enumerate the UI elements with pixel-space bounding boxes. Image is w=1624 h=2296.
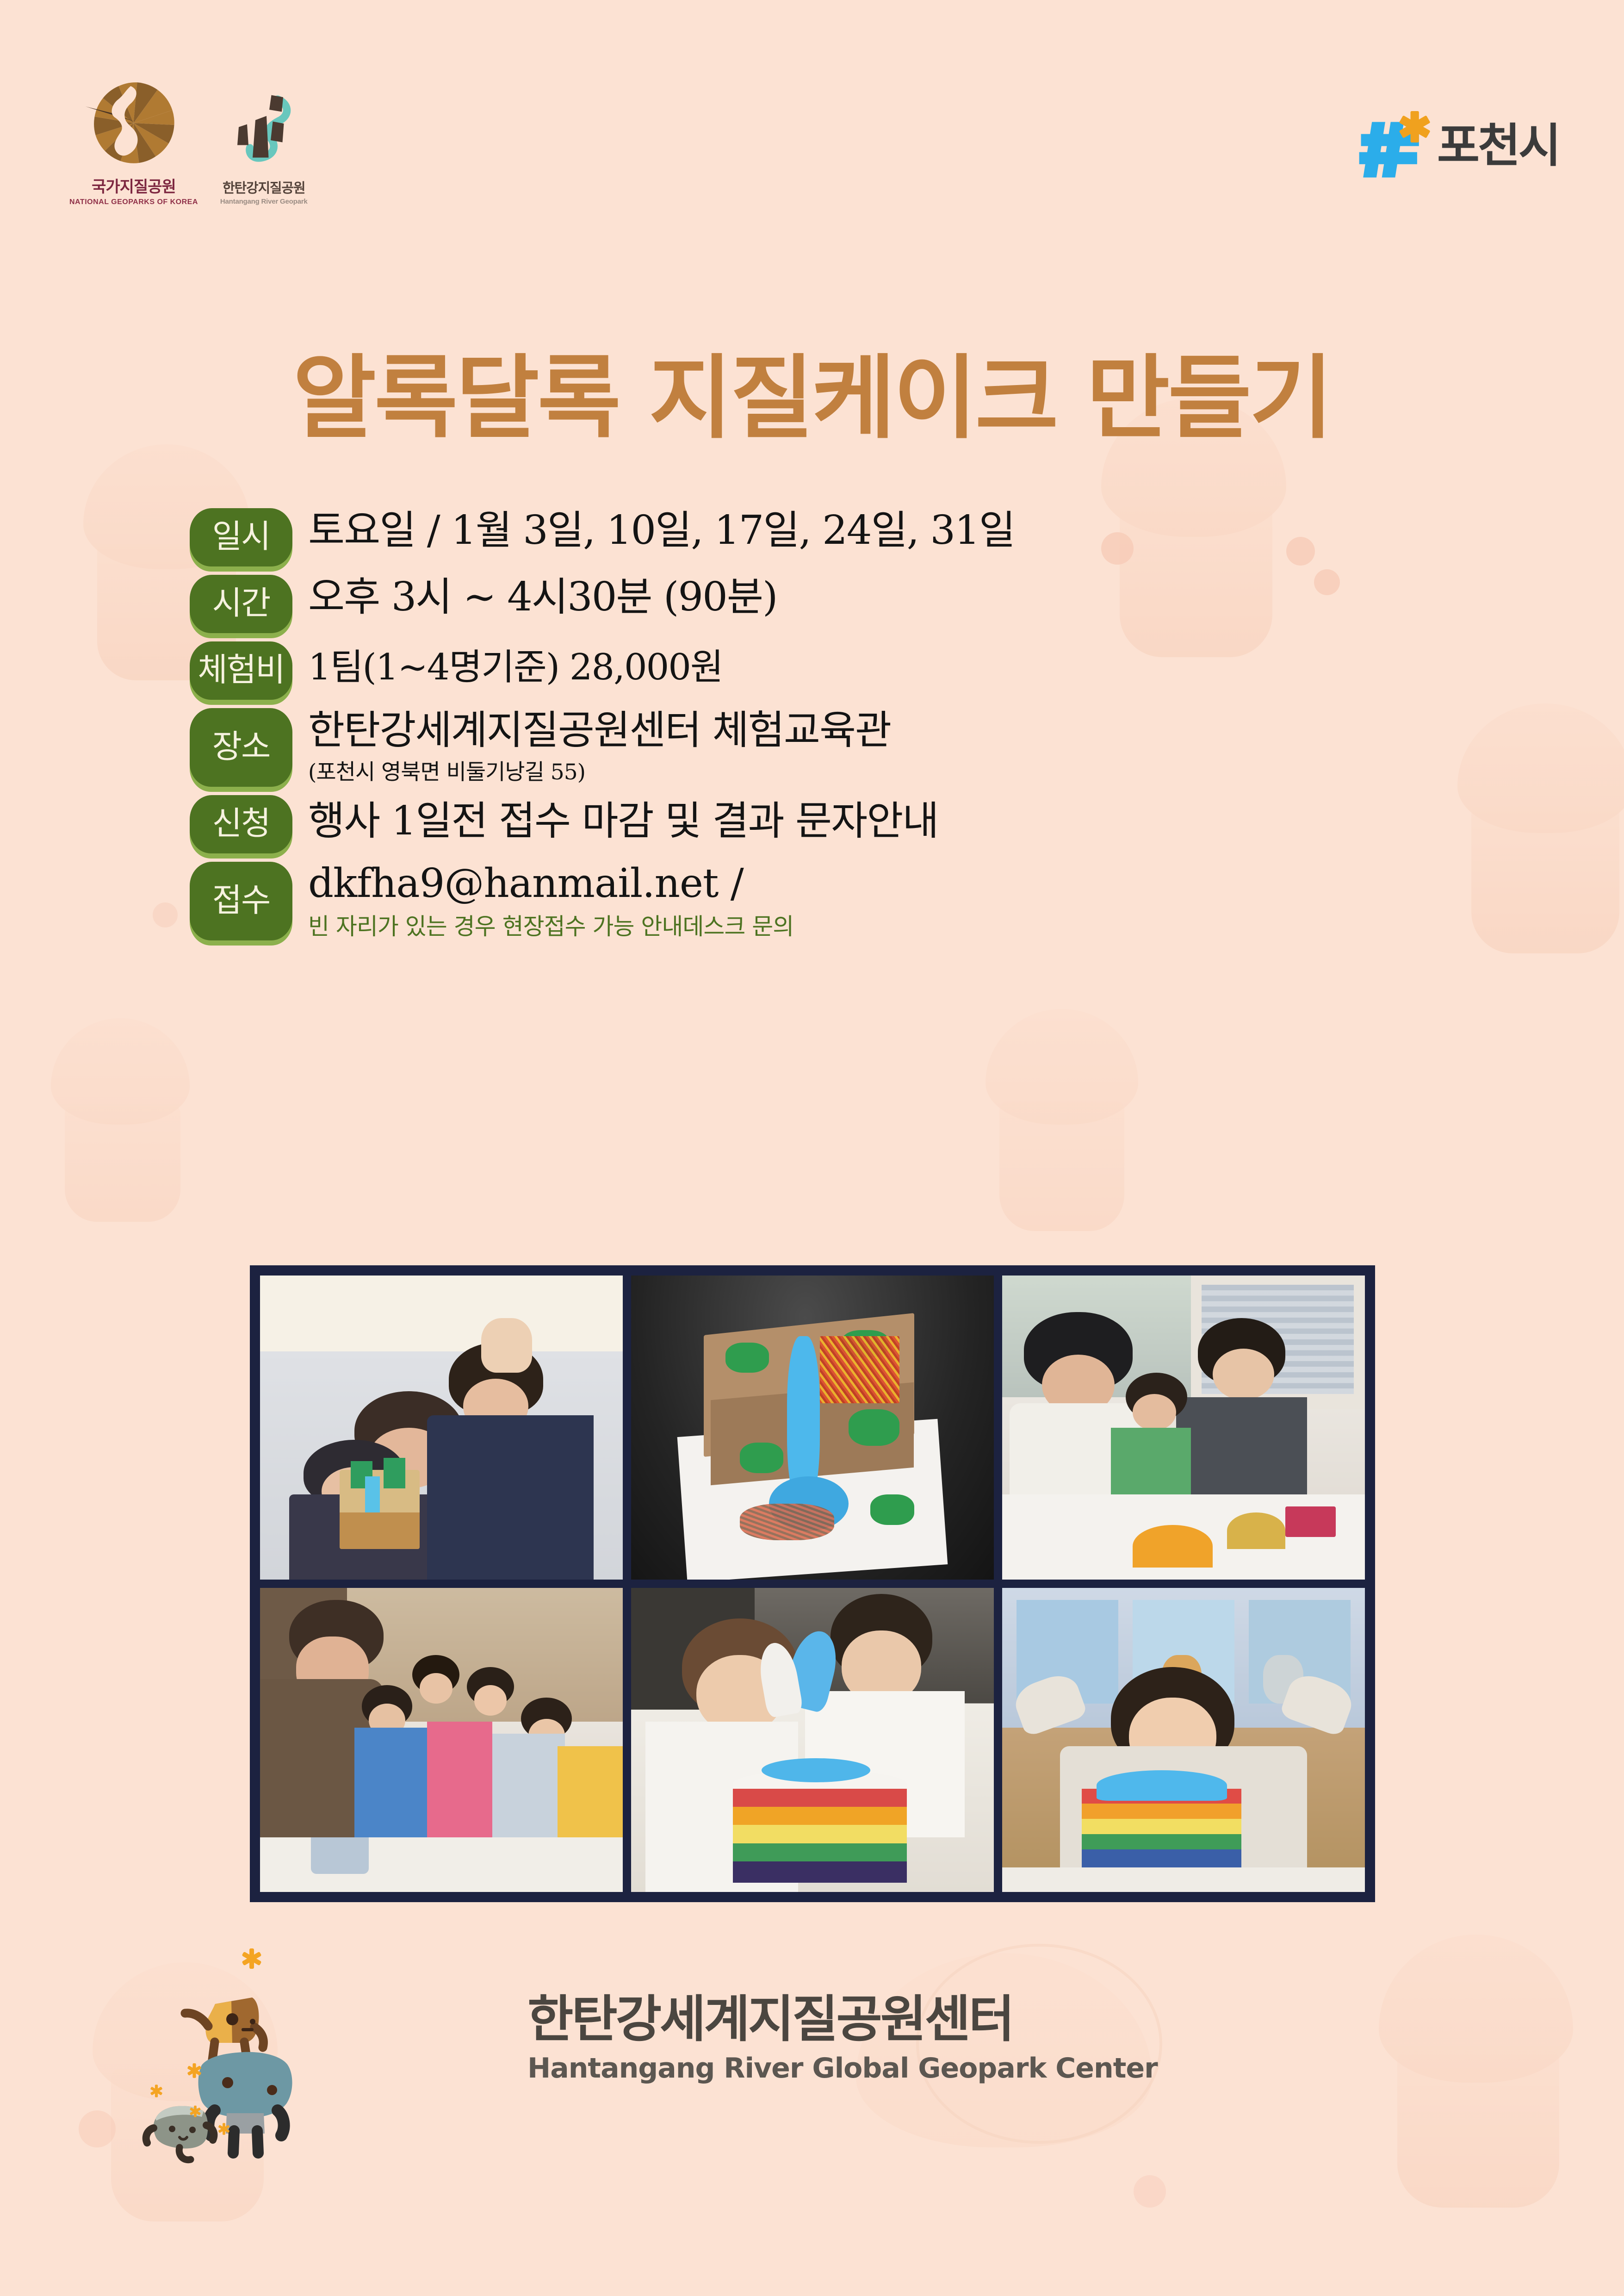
pocheon-hashtag-icon [1357, 111, 1431, 180]
info-value-fee: 1팀(1~4명기준) 28,000원 [308, 648, 1439, 687]
info-body-apply: 행사 1일전 접수 마감 및 결과 문자안내 [292, 795, 1439, 843]
hantangang-geopark-name-kr: 한탄강지질공원 [220, 177, 308, 197]
info-value-apply: 행사 1일전 접수 마감 및 결과 문자안내 [308, 800, 1439, 843]
footer: 한탄강세계지질공원센터 Hantangang River Global Geop… [0, 1935, 1624, 2194]
national-geoparks-of-korea-icon [84, 79, 183, 171]
info-row-registration: 접수 dkfha9@hanmail.net / 빈 자리가 있는 경우 현장접수… [190, 862, 1439, 941]
info-body-date: 토요일 / 1월 3일, 10일, 17일, 24일, 31일 [292, 508, 1439, 552]
gallery-photo-1 [260, 1276, 623, 1580]
national-geoparks-logo: 국가지질공원 NATIONAL GEOPARKS OF KOREA [69, 79, 198, 206]
national-geoparks-name-kr: 국가지질공원 [69, 174, 198, 197]
info-row-time: 시간 오후 3시 ~ 4시30분 (90분) [190, 575, 1439, 633]
info-value-place: 한탄강세계지질공원센터 체험교육관 [308, 709, 1439, 752]
registration-email[interactable]: dkfha9@hanmail.net / [308, 863, 1439, 904]
gallery-photo-5 [631, 1588, 994, 1892]
hantangang-geopark-logo: 한탄강지질공원 Hantangang River Geopark [220, 90, 308, 206]
footer-name-kr: 한탄강세계지질공원센터 [527, 1995, 1158, 2045]
info-subvalue-place-address: (포천시 영북면 비둘기낭길 55) [308, 754, 1439, 786]
info-row-place: 장소 한탄강세계지질공원센터 체험교육관 (포천시 영북면 비둘기낭길 55) [190, 708, 1439, 787]
info-label-registration: 접수 [190, 862, 292, 940]
badge-wrap-registration: 접수 [190, 862, 292, 940]
gallery-photo-3 [1002, 1276, 1365, 1580]
pocheon-city-logo: 포천시 [1357, 111, 1559, 180]
gallery-photo-4 [260, 1588, 623, 1892]
badge-wrap-fee: 체험비 [190, 641, 292, 700]
event-info-list: 일시 토요일 / 1월 3일, 10일, 17일, 24일, 31일 시간 오후… [190, 508, 1439, 950]
page-title: 알록달록 지질케이크 만들기 [0, 353, 1624, 444]
registration-note: 빈 자리가 있는 경우 현장접수 가능 안내데스크 문의 [308, 908, 1439, 941]
pocheon-city-name: 포천시 [1437, 123, 1559, 169]
hantangang-geopark-name-en: Hantangang River Geopark [220, 198, 308, 205]
footer-center-name: 한탄강세계지질공원센터 Hantangang River Global Geop… [527, 1995, 1158, 2084]
info-label-apply: 신청 [190, 795, 292, 853]
info-label-date: 일시 [190, 508, 292, 566]
gallery-photo-2 [631, 1276, 994, 1580]
info-body-fee: 1팀(1~4명기준) 28,000원 [292, 641, 1439, 687]
info-label-place: 장소 [190, 708, 292, 787]
info-value-time: 오후 3시 ~ 4시30분 (90분) [308, 576, 1439, 619]
photo-gallery [250, 1265, 1375, 1902]
mascot-grey-rock [146, 2106, 214, 2159]
badge-wrap-apply: 신청 [190, 795, 292, 853]
badge-wrap-date: 일시 [190, 508, 292, 566]
info-body-time: 오후 3시 ~ 4시30분 (90분) [292, 575, 1439, 619]
info-row-date: 일시 토요일 / 1월 3일, 10일, 17일, 24일, 31일 [190, 508, 1439, 566]
badge-wrap-time: 시간 [190, 575, 292, 633]
info-value-date: 토요일 / 1월 3일, 10일, 17일, 24일, 31일 [308, 509, 1439, 552]
gallery-photo-6 [1002, 1588, 1365, 1892]
info-row-apply: 신청 행사 1일전 접수 마감 및 결과 문자안내 [190, 795, 1439, 853]
badge-wrap-place: 장소 [190, 708, 292, 787]
hantangang-river-geopark-icon [229, 90, 298, 175]
info-label-fee: 체험비 [190, 641, 292, 700]
mascots-icon [116, 1944, 375, 2166]
info-row-fee: 체험비 1팀(1~4명기준) 28,000원 [190, 641, 1439, 700]
geopark-mascot-group [116, 1944, 375, 2166]
info-body-registration: dkfha9@hanmail.net / 빈 자리가 있는 경우 현장접수 가능… [292, 862, 1439, 941]
info-label-time: 시간 [190, 575, 292, 633]
footer-name-en: Hantangang River Global Geopark Center [527, 2052, 1158, 2084]
national-geoparks-name-en: NATIONAL GEOPARKS OF KOREA [69, 198, 198, 206]
header-logo-group: 국가지질공원 NATIONAL GEOPARKS OF KOREA 한탄강지질공… [69, 79, 308, 206]
info-body-place: 한탄강세계지질공원센터 체험교육관 (포천시 영북면 비둘기낭길 55) [292, 708, 1439, 786]
